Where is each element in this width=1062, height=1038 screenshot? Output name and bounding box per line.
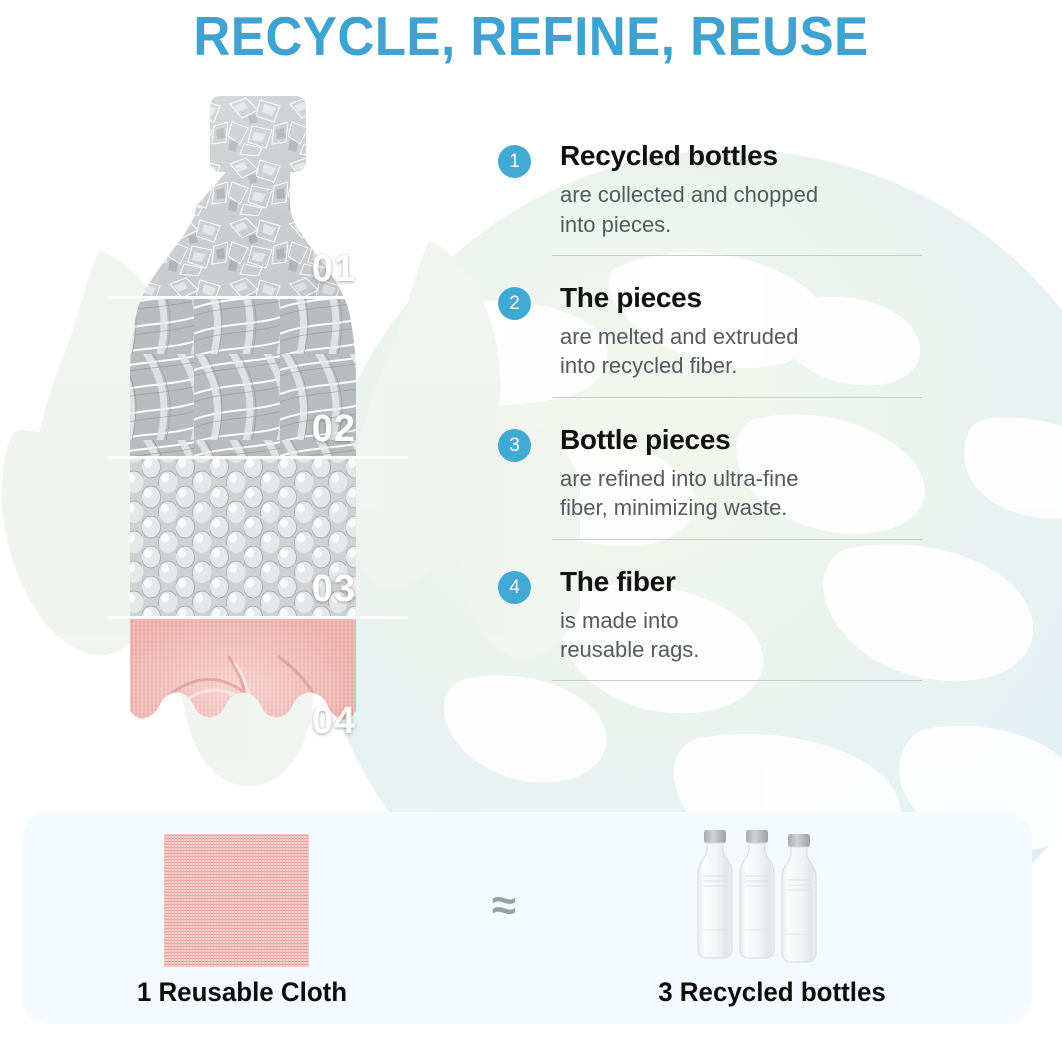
step-badge-4: 4 <box>498 571 531 604</box>
bottle-icon-1 <box>698 830 732 958</box>
segment-number-04: 04 <box>312 700 356 792</box>
bottle-collage: 01 02 03 04 <box>108 96 408 796</box>
step-body-3: are refined into ultra-fine fiber, minim… <box>560 464 966 523</box>
segment-divider-1 <box>108 296 408 299</box>
step-body-2: are melted and extruded into recycled fi… <box>560 322 966 381</box>
step-title-1: Recycled bottles <box>560 140 966 171</box>
bottle-icon-3 <box>782 834 816 962</box>
equivalence-panel: ≈ <box>22 812 1032 1024</box>
bottle-segment-03 <box>108 456 408 616</box>
recycled-bottles-icon-group <box>694 824 844 969</box>
bottles-label: 3 Recycled bottles <box>590 977 955 1008</box>
bottle-icon-2 <box>740 830 774 958</box>
step-badge-1: 1 <box>498 145 531 178</box>
page-title: RECYCLE, REFINE, REUSE <box>37 4 1025 68</box>
process-step-4: 4 The fiber is made into reusable rags. <box>496 566 966 665</box>
cloth-swatch <box>164 834 309 967</box>
process-step-list: 1 Recycled bottles are collected and cho… <box>496 140 966 681</box>
step-body-1: are collected and chopped into pieces. <box>560 180 966 239</box>
process-step-3: 3 Bottle pieces are refined into ultra-f… <box>496 424 966 523</box>
segment-divider-3 <box>108 616 408 619</box>
cloth-label: 1 Reusable Cloth <box>69 977 415 1008</box>
process-step-2: 2 The pieces are melted and extruded int… <box>496 282 966 381</box>
approximately-equal-icon: ≈ <box>474 884 534 928</box>
step-title-4: The fiber <box>560 566 966 597</box>
step-badge-3: 3 <box>498 429 531 462</box>
step-body-4: is made into reusable rags. <box>560 606 966 665</box>
process-step-1: 1 Recycled bottles are collected and cho… <box>496 140 966 239</box>
segment-divider-2 <box>108 456 408 459</box>
step-badge-2: 2 <box>498 287 531 320</box>
bottle-shape-svg <box>108 96 408 796</box>
step-title-2: The pieces <box>560 282 966 313</box>
step-title-3: Bottle pieces <box>560 424 966 455</box>
bottle-segment-02 <box>108 296 408 456</box>
step-divider-4 <box>552 680 922 681</box>
